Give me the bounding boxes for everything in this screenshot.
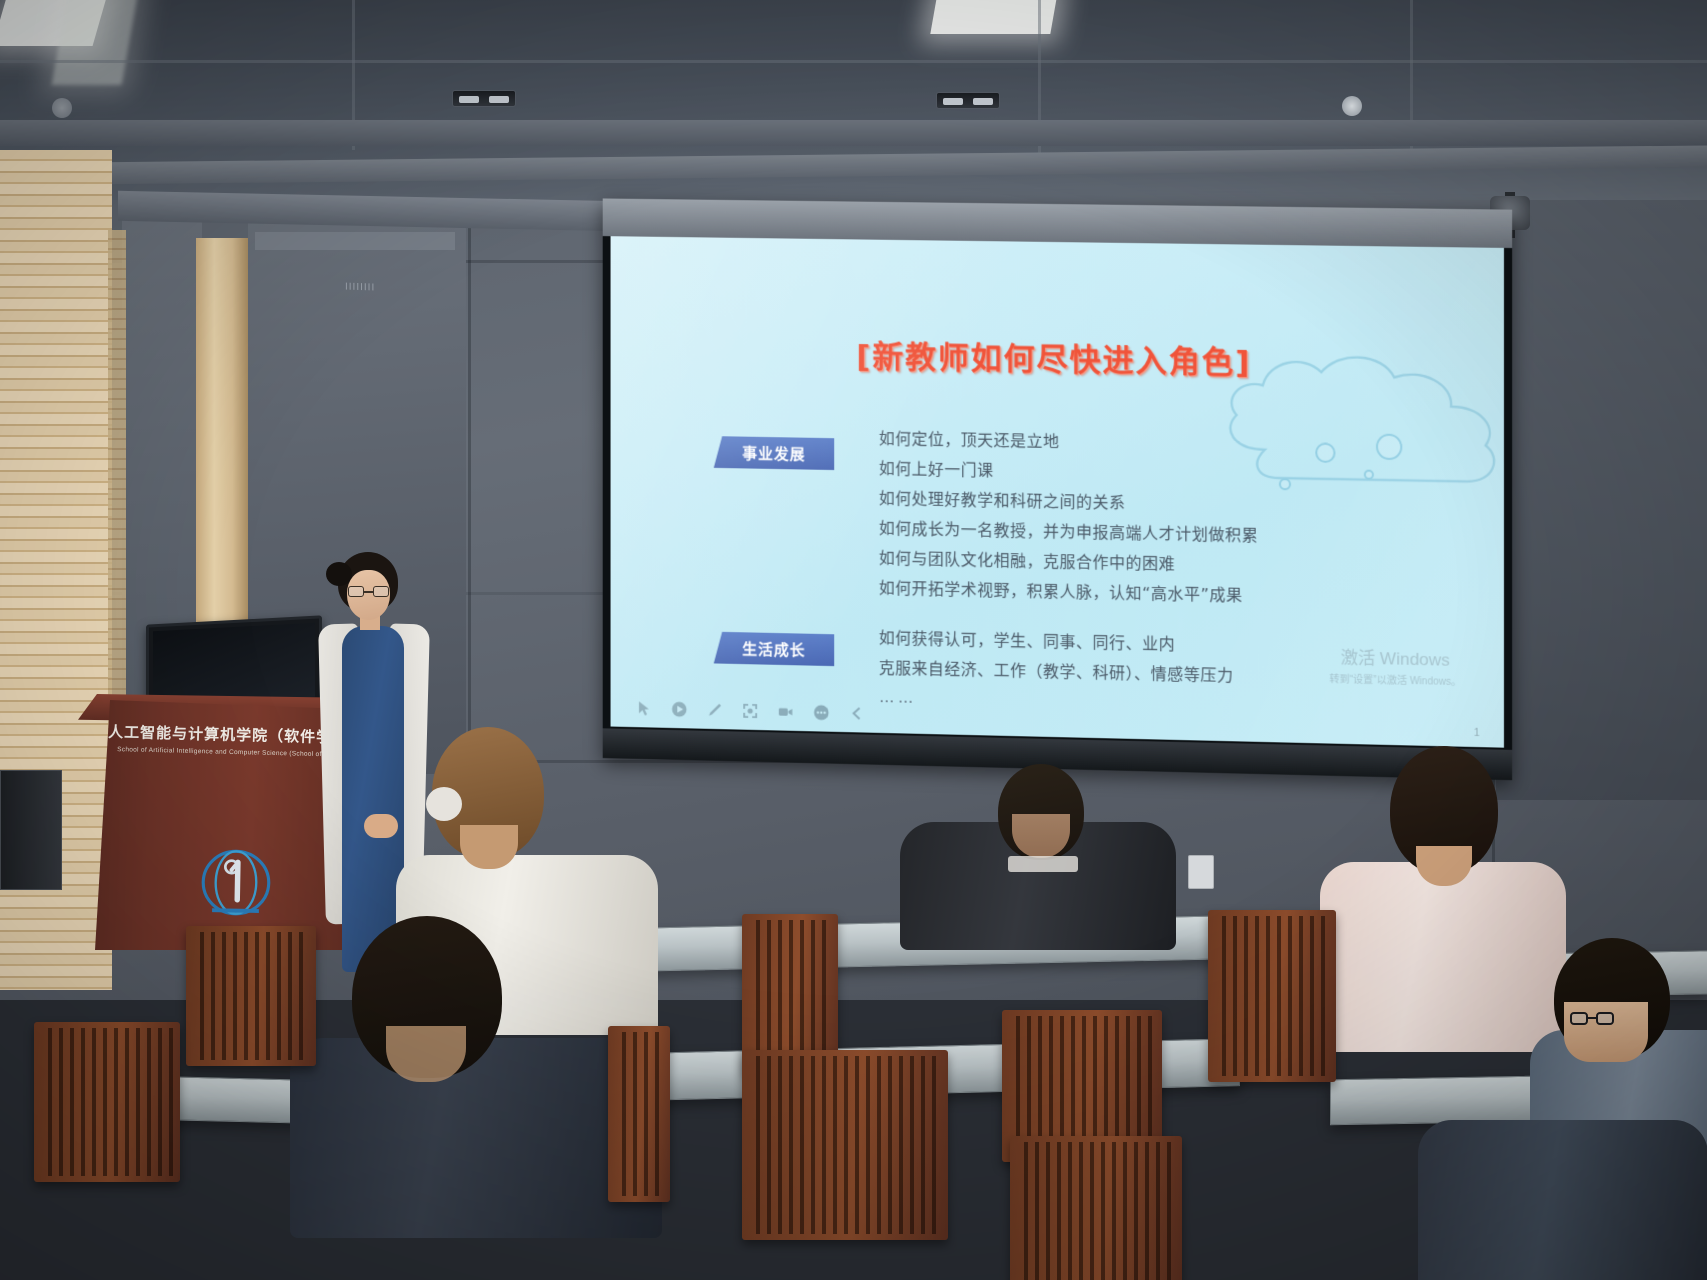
slideshow-toolbar[interactable] [634, 698, 866, 722]
glasses-icon [348, 586, 389, 597]
person-torso [290, 1038, 662, 1238]
ceiling-spotlight [936, 92, 1000, 109]
slide-title: [新教师如何尽快进入角色] [611, 327, 1504, 386]
blind-marking: IIIIIIII [345, 281, 375, 293]
camera-icon[interactable] [776, 702, 795, 721]
monitor-screen [153, 623, 315, 705]
wall-power-outlet[interactable] [1188, 855, 1214, 889]
blind-housing [255, 232, 455, 250]
audience-member [1418, 1080, 1707, 1280]
more-icon[interactable] [811, 702, 830, 721]
ceiling [0, 0, 1707, 215]
shirt-collar [1008, 856, 1078, 872]
windows-activation-watermark: 激活 Windows 转到“设置”以激活 Windows。 [1329, 643, 1461, 688]
chair[interactable] [1208, 910, 1336, 1082]
presentation-slide[interactable]: [新教师如何尽快进入角色] 事业发展 生活成长 如何定位，顶天还是立地 如何上好… [611, 236, 1504, 747]
zoom-target-icon[interactable] [740, 701, 759, 720]
chevron-left-icon[interactable] [847, 703, 866, 722]
chair[interactable] [608, 1026, 670, 1202]
wall-speaker [0, 770, 62, 890]
person-neck [386, 1026, 466, 1082]
section-tag-life: 生活成长 [714, 632, 834, 666]
audience-member [900, 770, 1180, 940]
ceiling-spotlight [452, 90, 516, 107]
pen-icon[interactable] [705, 700, 724, 719]
seating-area [0, 900, 1707, 1280]
play-icon[interactable] [669, 699, 688, 718]
ceiling-light-panel [52, 0, 139, 85]
wall-panel [1496, 200, 1707, 800]
ceiling-downlight [1342, 96, 1362, 116]
projection-screen: [新教师如何尽快进入角色] 事业发展 生活成长 如何定位，顶天还是立地 如何上好… [603, 198, 1512, 780]
ceiling-seam [0, 60, 1707, 63]
presenter-hands [364, 814, 398, 838]
watermark-line-1: 激活 Windows [1329, 643, 1461, 671]
section-tag-career: 事业发展 [714, 436, 834, 470]
ceiling-downlight [52, 98, 72, 118]
watermark-line-2: 转到“设置”以激活 Windows。 [1329, 670, 1461, 688]
hair-tie [426, 787, 462, 821]
pointer-icon[interactable] [634, 698, 653, 717]
person-neck [460, 825, 518, 869]
lecture-hall-scene: IIIIIIII [新教师如何尽快进入角色] 事业发展 生活成长 如何定位，顶天… [0, 0, 1707, 1280]
person-torso [1418, 1120, 1707, 1280]
chair[interactable] [742, 1050, 948, 1240]
chair[interactable] [34, 1022, 180, 1182]
chair[interactable] [186, 926, 316, 1066]
chair[interactable] [1010, 1136, 1182, 1280]
person-face [1564, 1002, 1648, 1062]
slide-page-number: 1 [1474, 728, 1480, 739]
ceiling-beam [0, 120, 1707, 146]
glasses-icon [1570, 1012, 1614, 1025]
